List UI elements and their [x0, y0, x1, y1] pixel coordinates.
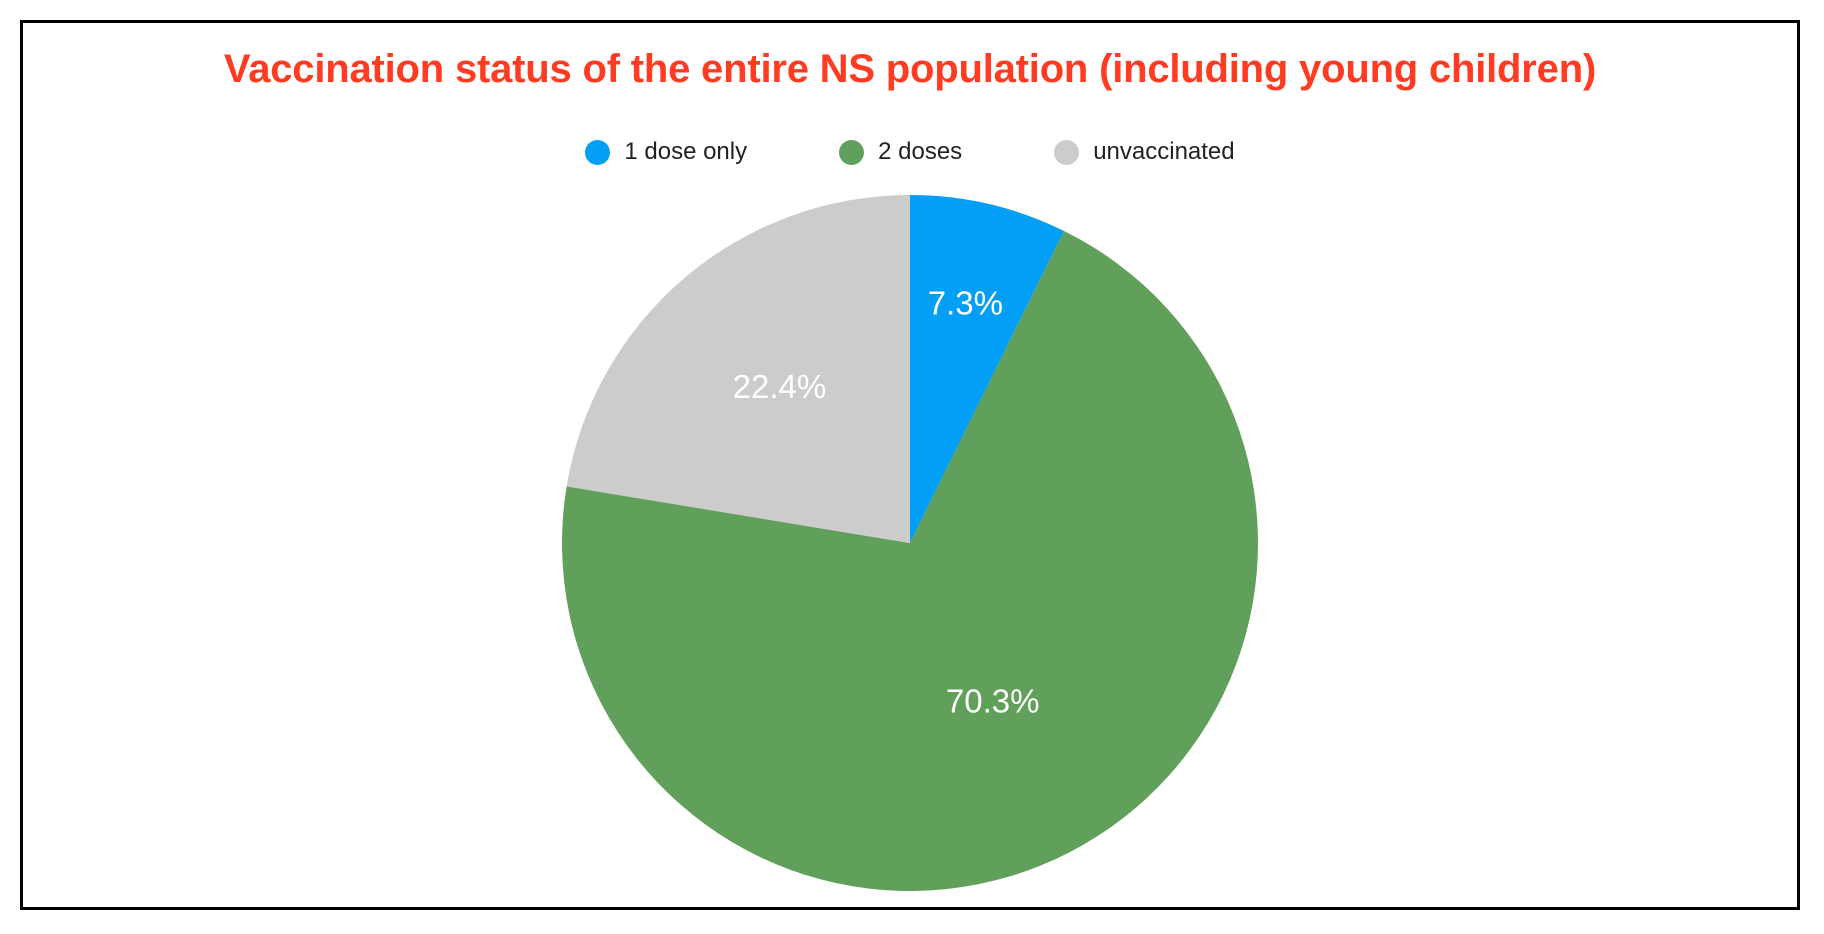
chart-frame: Vaccination status of the entire NS popu…: [20, 20, 1800, 910]
pie-slice-label: 22.4%: [733, 368, 827, 405]
pie-slice-label: 7.3%: [928, 285, 1003, 322]
pie-chart-area: 7.3%70.3%22.4%: [23, 193, 1797, 893]
legend-item-1-dose-only[interactable]: 1 dose only: [585, 138, 747, 166]
page-title: Vaccination status of the entire NS popu…: [23, 47, 1797, 92]
legend-item-unvaccinated[interactable]: unvaccinated: [1054, 138, 1234, 166]
legend-item-label: 1 dose only: [624, 138, 747, 166]
pie-slice-label: 70.3%: [946, 683, 1040, 720]
circle-swatch-icon: [1054, 140, 1079, 165]
legend-item-2-doses[interactable]: 2 doses: [839, 138, 962, 166]
circle-swatch-icon: [839, 140, 864, 165]
legend-item-label: 2 doses: [878, 138, 962, 166]
circle-swatch-icon: [585, 140, 610, 165]
legend-item-label: unvaccinated: [1093, 138, 1234, 166]
chart-legend: 1 dose only 2 doses unvaccinated: [23, 138, 1797, 166]
pie-chart: 7.3%70.3%22.4%: [560, 193, 1260, 893]
